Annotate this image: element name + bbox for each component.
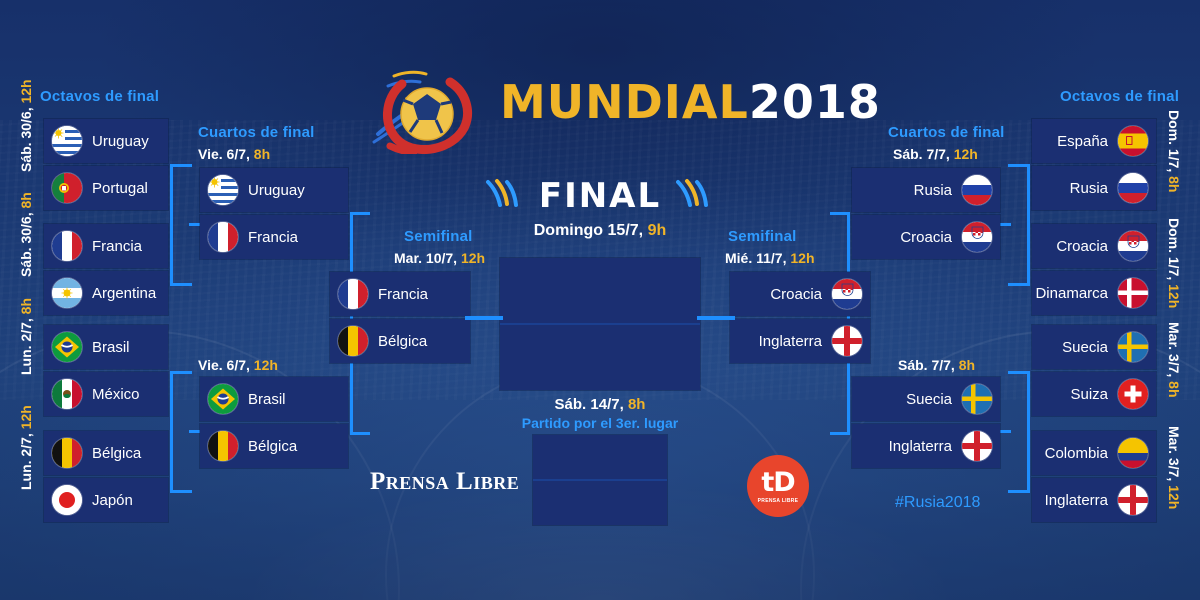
r16-left-match-4: Bélgica Japón <box>44 431 168 522</box>
final-hour: 9h <box>648 222 667 239</box>
vdate-left-3-text: Lun. 2/7, <box>18 433 34 490</box>
team-name: Bélgica <box>92 445 141 462</box>
team-name: Brasil <box>248 391 286 408</box>
team-row[interactable]: Inglaterra <box>730 319 870 363</box>
flag-colombia-icon <box>1118 438 1148 468</box>
page-title: MUNDIAL2018 <box>500 75 881 129</box>
team-row[interactable]: Japón <box>44 478 168 522</box>
team-row[interactable]: Inglaterra <box>1032 478 1156 522</box>
team-row[interactable]: México <box>44 372 168 416</box>
team-row[interactable]: Argentina <box>44 271 168 315</box>
r16-left-match-3: Brasil México <box>44 325 168 416</box>
team-row[interactable]: Uruguay <box>200 168 348 212</box>
r16-right-match-4: Colombia Inglaterra <box>1032 431 1156 522</box>
team-name: Argentina <box>92 285 156 302</box>
qf-right-top-date: Sáb. 7/7, 12h <box>893 146 978 162</box>
final-box-divider <box>500 323 700 325</box>
team-name: Suecia <box>1062 339 1108 356</box>
vdate-right-3-hour: 12h <box>1166 485 1182 509</box>
team-name: Inglaterra <box>1045 492 1108 509</box>
vdate-right-0-hour: 8h <box>1166 176 1182 192</box>
prensa-libre-wordmark: Prensa Libre <box>370 468 519 496</box>
flag-croacia-icon <box>1118 231 1148 261</box>
team-name: Bélgica <box>248 438 297 455</box>
team-name: Inglaterra <box>889 438 952 455</box>
team-name: Croacia <box>770 286 822 303</box>
team-row[interactable]: Croacia <box>852 215 1000 259</box>
team-row[interactable]: Dinamarca <box>1032 271 1156 315</box>
third-place-hour: 8h <box>628 396 646 413</box>
vdate-right-0: Dom. 1/7, 8h <box>1166 110 1182 192</box>
qf-left-top-date-text: Vie. 6/7, <box>198 146 250 162</box>
vdate-left-1-hour: 8h <box>18 192 34 208</box>
title-year: 2018 <box>749 75 881 129</box>
flag-inglaterra-icon <box>1118 485 1148 515</box>
vdate-left-1-text: Sáb. 30/6, <box>18 212 34 277</box>
flag-belgica-icon <box>208 431 238 461</box>
sf-left-match: Francia Bélgica <box>330 272 470 363</box>
team-name: Uruguay <box>248 182 305 199</box>
qf-right-match-top: Rusia Croacia <box>852 168 1000 259</box>
vdate-right-1-hour: 12h <box>1166 284 1182 308</box>
team-row[interactable]: Inglaterra <box>852 424 1000 468</box>
sf-right-hour: 12h <box>790 250 814 266</box>
team-row[interactable]: Suecia <box>1032 325 1156 369</box>
team-row[interactable]: Francia <box>44 224 168 268</box>
flag-mexico-icon <box>52 379 82 409</box>
qf-left-bottom-hour: 12h <box>254 357 278 373</box>
vdate-right-0-text: Dom. 1/7, <box>1166 110 1182 172</box>
round-title-qf-right: Cuartos de final <box>888 124 1005 141</box>
vdate-right-1: Dom. 1/7, 12h <box>1166 218 1182 308</box>
team-row[interactable]: Bélgica <box>200 424 348 468</box>
team-name: Japón <box>92 492 133 509</box>
team-name: Francia <box>92 238 142 255</box>
flag-suiza-icon <box>1118 379 1148 409</box>
flag-francia-icon <box>208 222 238 252</box>
flag-suecia-icon <box>1118 332 1148 362</box>
flag-brasil-icon <box>52 332 82 362</box>
qf-left-match-bottom: Brasil Bélgica <box>200 377 348 468</box>
flag-francia-icon <box>52 231 82 261</box>
team-name: Suecia <box>906 391 952 408</box>
qf-right-match-bottom: Suecia Inglaterra <box>852 377 1000 468</box>
vdate-right-2-hour: 8h <box>1166 381 1182 397</box>
team-name: Croacia <box>900 229 952 246</box>
r16-left-match-1: Uruguay Portugal <box>44 119 168 210</box>
team-row[interactable]: Portugal <box>44 166 168 210</box>
title-mundial: MUNDIAL <box>500 75 749 129</box>
team-name: Rusia <box>1070 180 1108 197</box>
flag-japon-icon <box>52 485 82 515</box>
third-place-date-text: Sáb. 14/7, <box>555 396 624 413</box>
flag-inglaterra-icon <box>962 431 992 461</box>
flag-uruguay-icon <box>208 175 238 205</box>
team-row[interactable]: Colombia <box>1032 431 1156 475</box>
sf-right-date: Mié. 11/7, 12h <box>725 250 815 266</box>
final-label: FINAL <box>500 176 700 216</box>
team-row[interactable]: Croacia <box>1032 224 1156 268</box>
mundial-flaming-ball-icon <box>372 62 478 154</box>
round-title-sf-right: Semifinal <box>728 228 797 245</box>
vdate-left-3-hour: 12h <box>18 405 34 429</box>
team-name: Brasil <box>92 339 130 356</box>
qf-left-bottom-date: Vie. 6/7, 12h <box>198 357 278 373</box>
third-place-label: Partido por el 3er. lugar <box>470 415 730 431</box>
sf-right-date-text: Mié. 11/7, <box>725 250 786 266</box>
team-name: Colombia <box>1045 445 1108 462</box>
flag-rusia-icon <box>1118 173 1148 203</box>
vdate-right-3-text: Mar. 3/7, <box>1166 426 1182 481</box>
sf-left-date-text: Mar. 10/7, <box>394 250 457 266</box>
qf-left-bottom-date-text: Vie. 6/7, <box>198 357 250 373</box>
team-name: Uruguay <box>92 133 149 150</box>
team-name: Bélgica <box>378 333 427 350</box>
qf-right-bottom-date-text: Sáb. 7/7, <box>898 357 955 373</box>
qf-right-top-date-text: Sáb. 7/7, <box>893 146 950 162</box>
team-row[interactable]: Uruguay <box>44 119 168 163</box>
round-title-sf-left: Semifinal <box>404 228 473 245</box>
final-date: Domingo 15/7, 9h <box>470 222 730 240</box>
third-place-date: Sáb. 14/7, 8h <box>470 396 730 413</box>
flag-brasil-icon <box>208 384 238 414</box>
vdate-right-3: Mar. 3/7, 12h <box>1166 426 1182 509</box>
flag-croacia-icon <box>962 222 992 252</box>
round-title-r16-left: Octavos de final <box>40 88 159 105</box>
team-row[interactable]: Francia <box>330 272 470 316</box>
sf-left-date: Mar. 10/7, 12h <box>394 250 485 266</box>
third-box-divider <box>533 479 667 481</box>
round-title-qf-left: Cuartos de final <box>198 124 315 141</box>
qf-right-bottom-date: Sáb. 7/7, 8h <box>898 357 975 373</box>
qf-right-top-hour: 12h <box>954 146 978 162</box>
flag-dinamarca-icon <box>1118 278 1148 308</box>
final-right-swoosh-icon <box>676 178 708 208</box>
team-row[interactable]: Rusia <box>852 168 1000 212</box>
vdate-left-1: Sáb. 30/6, 8h <box>18 192 34 277</box>
flag-espana-icon <box>1118 126 1148 156</box>
vdate-right-2-text: Mar. 3/7, <box>1166 322 1182 377</box>
r16-left-match-2: Francia Argentina <box>44 224 168 315</box>
team-name: México <box>92 386 140 403</box>
team-row[interactable]: Francia <box>200 215 348 259</box>
team-row[interactable]: Rusia <box>1032 166 1156 210</box>
flag-inglaterra-icon <box>832 326 862 356</box>
hashtag: #Rusia2018 <box>895 494 980 512</box>
team-row[interactable]: Brasil <box>44 325 168 369</box>
flag-rusia-icon <box>962 175 992 205</box>
sf-right-match: Croacia Inglaterra <box>730 272 870 363</box>
vdate-left-3: Lun. 2/7, 12h <box>18 405 34 490</box>
flag-belgica-icon <box>338 326 368 356</box>
team-row[interactable]: Brasil <box>200 377 348 421</box>
team-name: España <box>1057 133 1108 150</box>
vdate-right-1-text: Dom. 1/7, <box>1166 218 1182 280</box>
td-logo-subtext: PRENSA LIBRE <box>758 498 799 504</box>
team-row[interactable]: Bélgica <box>330 319 470 363</box>
team-name: Portugal <box>92 180 148 197</box>
flag-suecia-icon <box>962 384 992 414</box>
vdate-left-0-hour: 12h <box>18 79 34 103</box>
qf-left-top-date: Vie. 6/7, 8h <box>198 146 270 162</box>
flag-croacia-icon <box>832 279 862 309</box>
team-row[interactable]: Suiza <box>1032 372 1156 416</box>
td-logo-text: tD <box>761 469 794 496</box>
vdate-right-2: Mar. 3/7, 8h <box>1166 322 1182 398</box>
flag-argentina-icon <box>52 278 82 308</box>
team-name: Croacia <box>1056 238 1108 255</box>
flag-belgica-icon <box>52 438 82 468</box>
flag-francia-icon <box>338 279 368 309</box>
team-row[interactable]: Suecia <box>852 377 1000 421</box>
vdate-left-2-hour: 8h <box>18 298 34 314</box>
vdate-left-0-text: Sáb. 30/6, <box>18 107 34 172</box>
qf-left-top-hour: 8h <box>254 146 270 162</box>
flag-uruguay-icon <box>52 126 82 156</box>
round-title-r16-right: Octavos de final <box>1060 88 1179 105</box>
team-row[interactable]: Bélgica <box>44 431 168 475</box>
team-name: Francia <box>248 229 298 246</box>
r16-right-match-1: España Rusia <box>1032 119 1156 210</box>
final-match-box <box>500 258 700 390</box>
team-name: Rusia <box>914 182 952 199</box>
team-name: Dinamarca <box>1035 285 1108 302</box>
sf-left-hour: 12h <box>461 250 485 266</box>
r16-right-match-2: Croacia Dinamarca <box>1032 224 1156 315</box>
team-row[interactable]: España <box>1032 119 1156 163</box>
final-date-text: Domingo 15/7, <box>534 222 643 239</box>
third-place-match-box <box>533 435 667 525</box>
vdate-left-2: Lun. 2/7, 8h <box>18 298 34 375</box>
flag-portugal-icon <box>52 173 82 203</box>
team-row[interactable]: Croacia <box>730 272 870 316</box>
vdate-left-2-text: Lun. 2/7, <box>18 318 34 375</box>
qf-left-match-top: Uruguay Francia <box>200 168 348 259</box>
team-name: Francia <box>378 286 428 303</box>
td-logo: tD PRENSA LIBRE <box>747 455 809 517</box>
qf-right-bottom-hour: 8h <box>959 357 975 373</box>
vdate-left-0: Sáb. 30/6, 12h <box>18 79 34 172</box>
team-name: Inglaterra <box>759 333 822 350</box>
r16-right-match-3: Suecia Suiza <box>1032 325 1156 416</box>
team-name: Suiza <box>1070 386 1108 403</box>
